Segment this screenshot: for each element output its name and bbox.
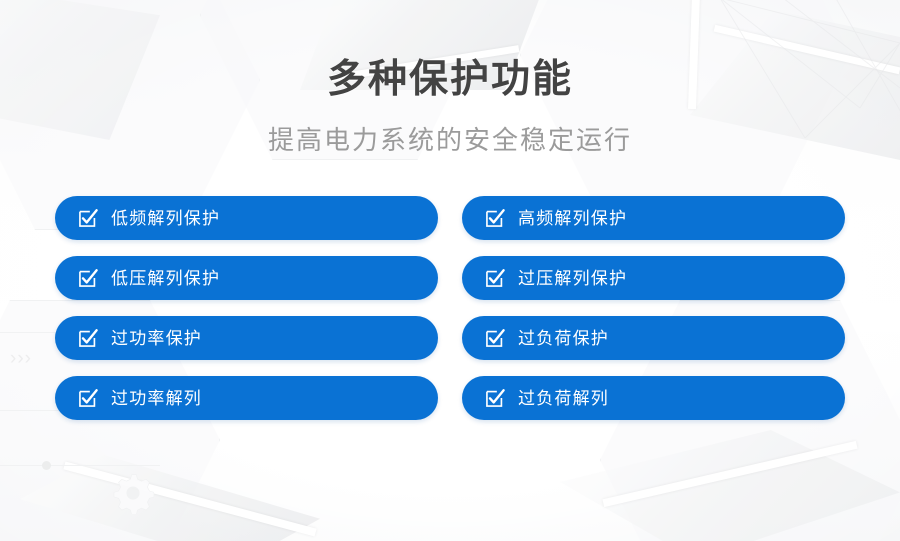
feature-item-high-frequency-islanding[interactable]: 高频解列保护 (462, 196, 845, 240)
feature-item-over-power-protection[interactable]: 过功率保护 (55, 316, 438, 360)
feature-item-low-voltage-islanding[interactable]: 低压解列保护 (55, 256, 438, 300)
checkbox-checked-icon (77, 387, 99, 409)
content-area: 多种保护功能 提高电力系统的安全稳定运行 低频解列保护 高频解列保护 (0, 0, 900, 541)
promo-banner: ››› 多种保护功能 提高电力系统的安全稳定运行 低频解列保护 (0, 0, 900, 541)
checkbox-checked-icon (77, 327, 99, 349)
checkbox-checked-icon (484, 387, 506, 409)
checkbox-checked-icon (484, 327, 506, 349)
feature-item-low-frequency-islanding[interactable]: 低频解列保护 (55, 196, 438, 240)
feature-label: 低频解列保护 (111, 210, 220, 227)
feature-label: 高频解列保护 (518, 210, 627, 227)
feature-grid: 低频解列保护 高频解列保护 低压解列保护 (55, 196, 845, 420)
checkbox-checked-icon (484, 207, 506, 229)
feature-label: 过压解列保护 (518, 270, 627, 287)
feature-item-overload-protection[interactable]: 过负荷保护 (462, 316, 845, 360)
feature-item-overload-islanding[interactable]: 过负荷解列 (462, 376, 845, 420)
heading-block: 多种保护功能 提高电力系统的安全稳定运行 (0, 0, 900, 156)
page-title: 多种保护功能 (0, 58, 900, 103)
feature-item-over-voltage-islanding[interactable]: 过压解列保护 (462, 256, 845, 300)
checkbox-checked-icon (484, 267, 506, 289)
feature-label: 过功率解列 (111, 390, 202, 407)
feature-label: 过功率保护 (111, 330, 202, 347)
page-subtitle: 提高电力系统的安全稳定运行 (0, 125, 900, 156)
feature-label: 低压解列保护 (111, 270, 220, 287)
feature-label: 过负荷保护 (518, 330, 609, 347)
checkbox-checked-icon (77, 207, 99, 229)
feature-label: 过负荷解列 (518, 390, 609, 407)
feature-item-over-power-islanding[interactable]: 过功率解列 (55, 376, 438, 420)
checkbox-checked-icon (77, 267, 99, 289)
